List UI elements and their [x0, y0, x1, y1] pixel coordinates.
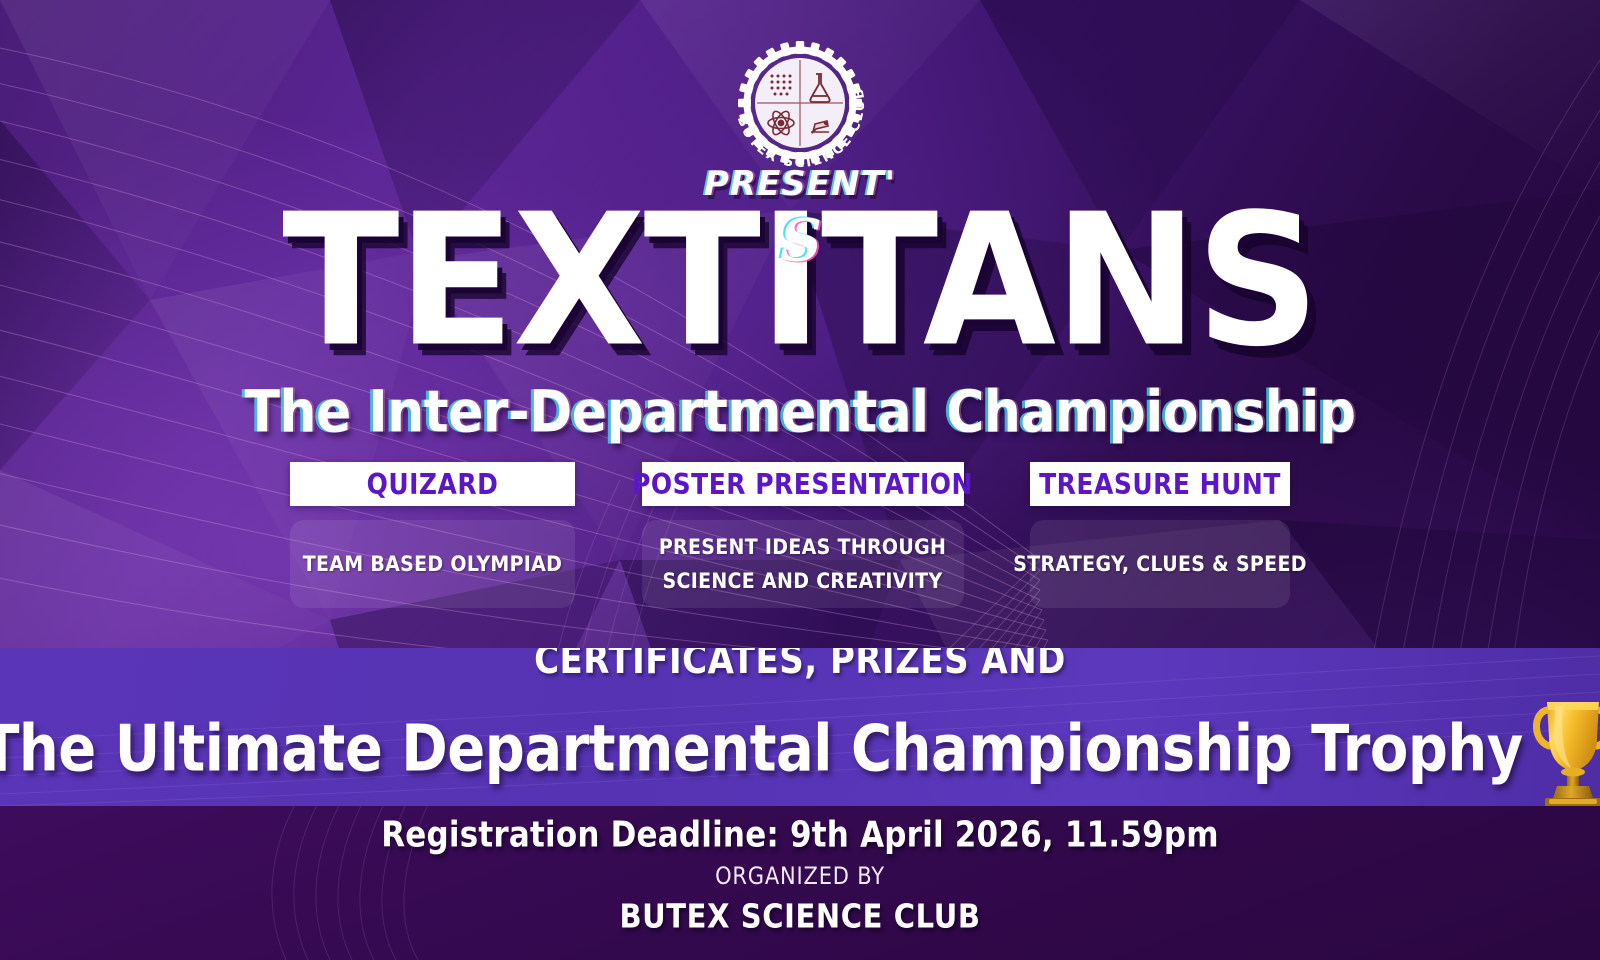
event-card-poster-presentation[interactable]: POSTER PRESENTATION PRESENT IDEAS THROUG…: [642, 462, 964, 608]
prizes-line-2: The Ultimate Departmental Championship T…: [0, 716, 1523, 784]
registration-deadline: Registration Deadline: 9th April 2026, 1…: [381, 813, 1219, 856]
trophy-icon: [1527, 682, 1600, 806]
organizer-name: BUTEX SCIENCE CLUB: [619, 898, 980, 934]
event-description: TEAM BASED OLYMPIAD: [290, 520, 575, 608]
title-accent-s: S: [780, 212, 820, 270]
event-description-line: SCIENCE AND CREATIVITY: [662, 562, 942, 601]
event-name: TREASURE HUNT: [1039, 467, 1281, 500]
event-name: POSTER PRESENTATION: [632, 467, 973, 500]
prizes-band: CERTIFICATES, PRIZES AND The Ultimate De…: [0, 648, 1600, 806]
event-card-treasure-hunt[interactable]: TREASURE HUNT STRATEGY, CLUES & SPEED: [1030, 462, 1290, 608]
subtitle: The Inter-Departmental Championship: [0, 380, 1600, 445]
event-name: QUIZARD: [367, 467, 499, 500]
event-poster: BUTEX SCIENCE CLUB PRESENT' TEXTITANS S …: [0, 0, 1600, 960]
event-description-line: TEAM BASED OLYMPIAD: [303, 545, 563, 584]
event-description: PRESENT IDEAS THROUGH SCIENCE AND CREATI…: [642, 520, 964, 608]
butex-science-club-emblem: BUTEX SCIENCE CLUB: [715, 18, 885, 188]
event-name-banner: POSTER PRESENTATION: [642, 462, 964, 506]
event-card-quizard[interactable]: QUIZARD TEAM BASED OLYMPIAD: [290, 462, 575, 608]
prizes-trophy-line: The Ultimate Departmental Championship T…: [0, 688, 1600, 806]
organized-by-label: ORGANIZED BY: [715, 862, 885, 889]
event-description-line: STRATEGY, CLUES & SPEED: [1013, 545, 1307, 584]
event-description: STRATEGY, CLUES & SPEED: [1030, 520, 1290, 608]
event-cards: QUIZARD TEAM BASED OLYMPIAD POSTER PRESE…: [290, 462, 1290, 612]
footer: Registration Deadline: 9th April 2026, 1…: [0, 806, 1600, 960]
event-description-line: PRESENT IDEAS THROUGH: [659, 528, 946, 567]
main-title-row: TEXTITANS S: [0, 206, 1600, 356]
prizes-line-1: CERTIFICATES, PRIZES AND: [534, 648, 1066, 681]
footer-content: Registration Deadline: 9th April 2026, 1…: [0, 806, 1600, 960]
event-name-banner: QUIZARD: [290, 462, 575, 506]
event-name-banner: TREASURE HUNT: [1030, 462, 1290, 506]
main-title: TEXTITANS S: [282, 202, 1318, 361]
club-logo: BUTEX SCIENCE CLUB: [715, 18, 885, 188]
prizes-content: CERTIFICATES, PRIZES AND The Ultimate De…: [0, 648, 1600, 806]
